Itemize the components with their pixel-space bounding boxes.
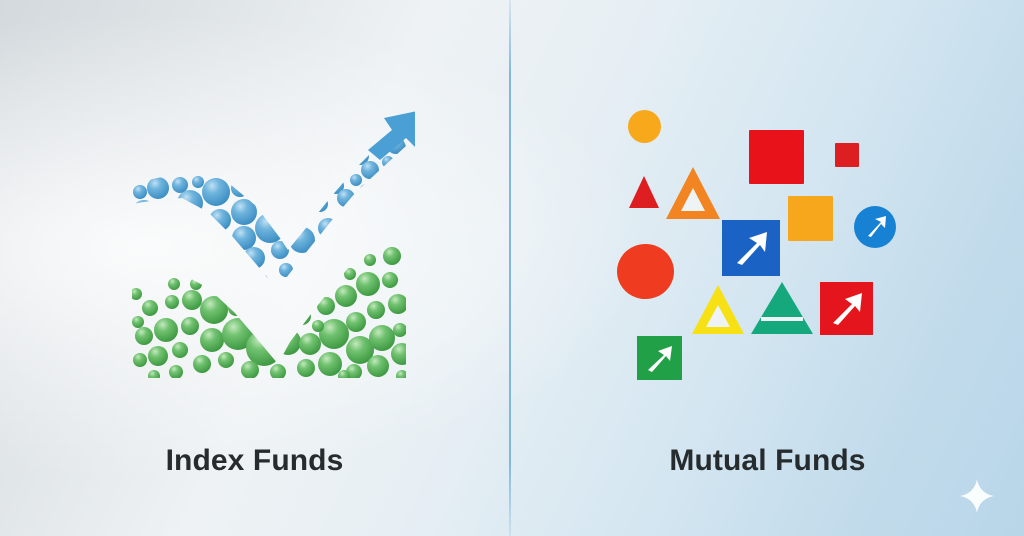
red-orange-circle-shape — [617, 244, 674, 299]
blue-circle-arrow-shape — [854, 206, 896, 248]
orange-outline-triangle-shape — [666, 167, 720, 219]
red-square-large-shape — [749, 130, 804, 184]
red-square-arrow-shape — [820, 282, 873, 335]
green-bubble-band — [130, 247, 413, 382]
teal-triangle-split-shape — [751, 282, 813, 334]
panel-right-caption: Mutual Funds — [511, 444, 1024, 478]
slide-canvas: Index Funds — [0, 0, 1024, 536]
orange-square-shape — [788, 196, 833, 241]
blue-square-arrow-shape — [722, 220, 780, 276]
panel-left-caption: Index Funds — [0, 444, 509, 478]
yellow-outline-triangle-shape — [692, 285, 744, 334]
orange-circle-shape — [628, 110, 661, 143]
blue-bubble-band — [132, 134, 406, 294]
panel-mutual-funds: Mutual Funds — [511, 0, 1024, 536]
panel-index-funds: Index Funds — [0, 0, 509, 536]
sparkle-icon — [959, 478, 995, 514]
bubble-growth-chart — [130, 88, 415, 393]
red-triangle-shape — [629, 176, 659, 208]
red-square-small-shape — [835, 143, 859, 167]
green-square-arrow-shape — [637, 336, 682, 380]
